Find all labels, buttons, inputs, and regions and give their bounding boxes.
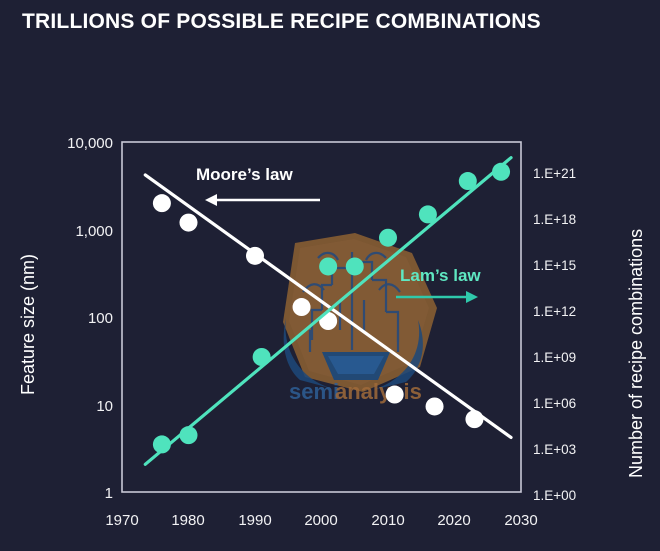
data-point (153, 194, 171, 212)
y2-tick-label: 1.E+09 (533, 350, 576, 365)
svg-text:semi: semi (289, 379, 339, 404)
y-axis-ticks: 10,000 1,000 100 10 1 (67, 135, 113, 502)
y2-axis-title: Number of recipe combinations (626, 229, 646, 478)
data-point (293, 298, 311, 316)
data-point (180, 426, 198, 444)
x-tick-label: 1970 (105, 512, 138, 529)
data-point (379, 229, 397, 247)
trend-line (145, 158, 511, 465)
y-tick-label: 10 (96, 398, 113, 415)
svg-text:analysis: analysis (335, 379, 422, 404)
x-tick-label: 2020 (437, 512, 470, 529)
series-layer (145, 158, 511, 465)
chart-canvas: semi analysis Feature size (nm) Number o… (0, 0, 660, 551)
y2-axis-ticks: 1.E+21 1.E+18 1.E+15 1.E+12 1.E+09 1.E+0… (533, 166, 576, 503)
annotation-label: Lam’s law (400, 266, 481, 285)
series-lam (145, 158, 511, 465)
x-tick-label: 1980 (171, 512, 204, 529)
data-point (459, 172, 477, 190)
y-tick-label: 10,000 (67, 135, 113, 152)
data-point (386, 386, 404, 404)
y-tick-label: 1,000 (75, 223, 113, 240)
y-tick-label: 100 (88, 310, 113, 327)
data-point (419, 205, 437, 223)
y2-tick-label: 1.E+00 (533, 488, 576, 503)
x-tick-label: 2000 (304, 512, 337, 529)
y2-tick-label: 1.E+21 (533, 166, 576, 181)
data-point (346, 257, 364, 275)
chart-root: TRILLIONS OF POSSIBLE RECIPE COMBINATION… (0, 0, 660, 551)
x-axis-ticks: 1970 1980 1990 2000 2010 2020 2030 (105, 512, 537, 529)
y2-tick-label: 1.E+15 (533, 258, 576, 273)
y2-tick-label: 1.E+06 (533, 396, 576, 411)
annotation-label: Moore’s law (196, 165, 293, 184)
y-tick-label: 1 (105, 485, 113, 502)
y-axis-title: Feature size (nm) (18, 254, 38, 395)
x-tick-label: 2030 (504, 512, 537, 529)
y2-tick-label: 1.E+03 (533, 442, 576, 457)
data-point (492, 163, 510, 181)
annotation-lams-law: Lam’s law (396, 266, 481, 303)
data-point (253, 348, 271, 366)
annotation-moores-law: Moore’s law (196, 165, 320, 206)
data-point (426, 397, 444, 415)
data-point (319, 257, 337, 275)
x-tick-label: 1990 (238, 512, 271, 529)
x-tick-label: 2010 (371, 512, 404, 529)
arrow-left-icon (205, 194, 320, 206)
data-point (246, 247, 264, 265)
data-point (180, 214, 198, 232)
y2-tick-label: 1.E+18 (533, 212, 576, 227)
y2-tick-label: 1.E+12 (533, 304, 576, 319)
data-point (153, 435, 171, 453)
data-point (465, 410, 483, 428)
